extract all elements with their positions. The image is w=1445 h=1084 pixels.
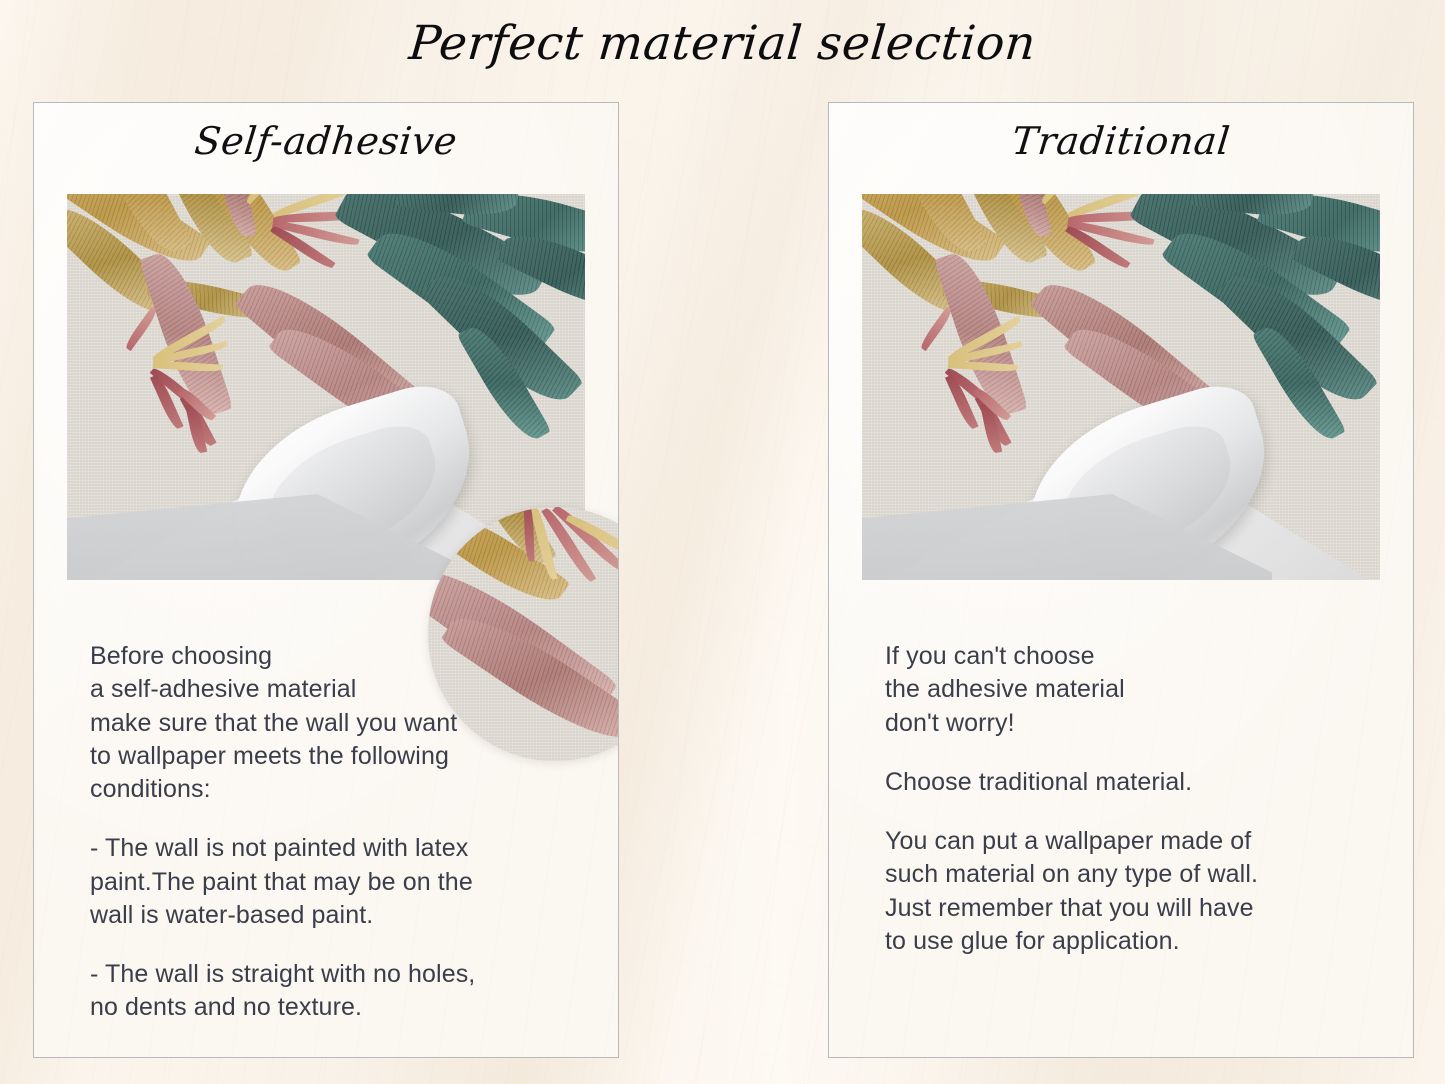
paragraph: - The wall is not painted with latex pai… xyxy=(90,832,586,932)
infographic-page: Perfect material selection Self-adhesive xyxy=(0,0,1445,1084)
page-title: Perfect material selection xyxy=(0,16,1445,71)
paragraph: Choose traditional material. xyxy=(885,766,1381,799)
card-self-adhesive: Self-adhesive xyxy=(33,102,619,1058)
card-traditional: Traditional xyxy=(828,102,1414,1058)
card-title-traditional: Traditional xyxy=(828,119,1414,163)
body-text-traditional: If you can't choose the adhesive materia… xyxy=(885,640,1381,958)
paragraph: Before choosing a self-adhesive material… xyxy=(90,640,586,806)
card-title-self-adhesive: Self-adhesive xyxy=(33,119,619,163)
paragraph: You can put a wallpaper made of such mat… xyxy=(885,825,1381,958)
wallpaper-photo-traditional xyxy=(862,194,1380,580)
paragraph: - The wall is straight with no holes, no… xyxy=(90,958,586,1025)
body-text-self-adhesive: Before choosing a self-adhesive material… xyxy=(90,640,586,1025)
paragraph: If you can't choose the adhesive materia… xyxy=(885,640,1381,740)
